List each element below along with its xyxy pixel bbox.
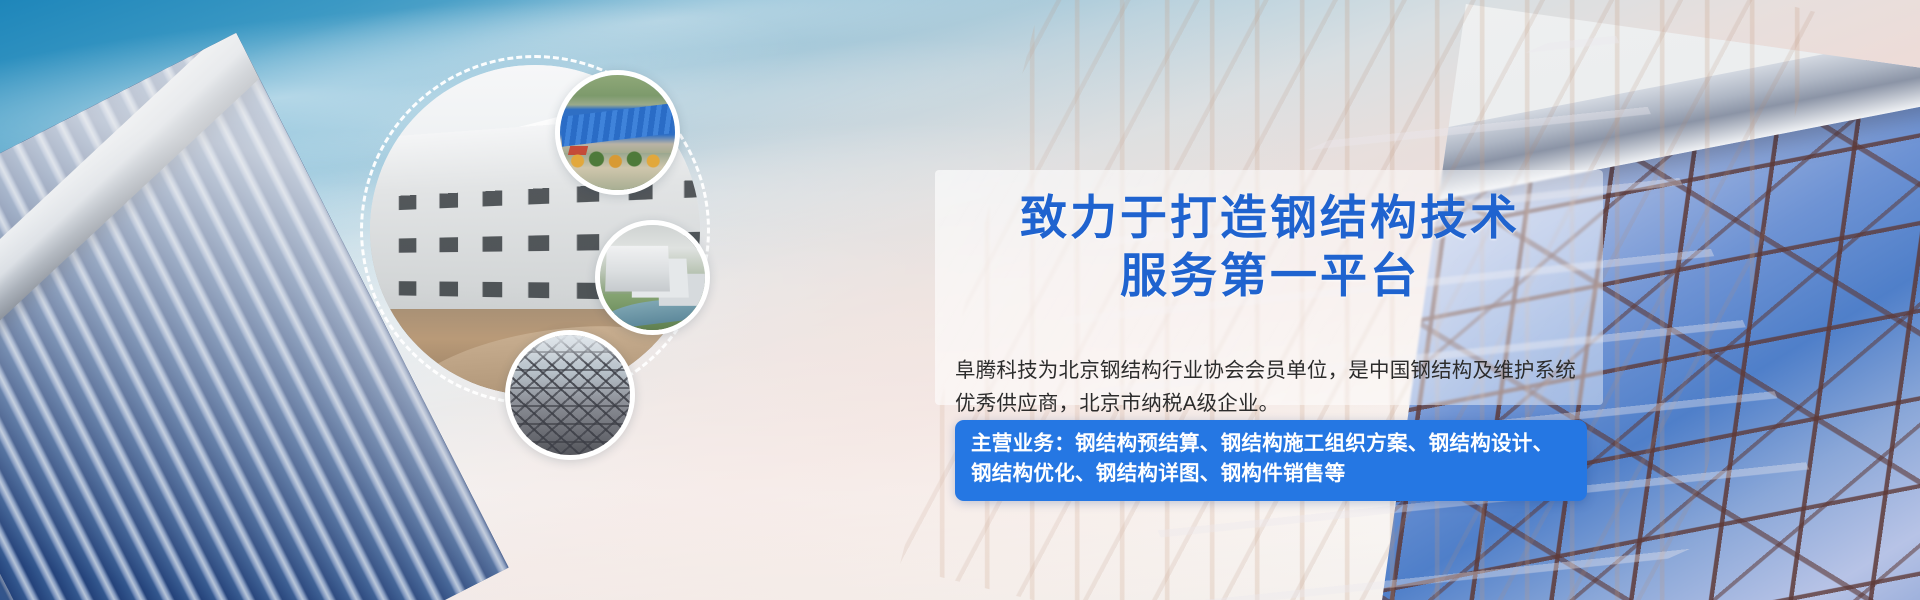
industrial-park-photo (595, 220, 710, 335)
blue-roof-factory-photo (555, 70, 680, 195)
photo-trees (565, 149, 671, 170)
main-business-box: 主营业务：钢结构预结算、钢结构施工组织方案、钢结构设计、钢结构优化、钢结构详图、… (955, 420, 1587, 501)
steel-truss-photo (505, 330, 635, 460)
photo-buildings (605, 246, 670, 292)
hero-banner: 致力于打造钢结构技术 服务第一平台 阜腾科技为北京钢结构行业协会会员单位，是中国… (0, 0, 1920, 600)
photo-circle-cluster (360, 55, 760, 455)
banner-headline: 致力于打造钢结构技术 服务第一平台 (935, 191, 1605, 306)
photo-sky (510, 335, 630, 364)
banner-description: 阜腾科技为北京钢结构行业协会会员单位，是中国钢结构及维护系统优秀供应商，北京市纳… (955, 354, 1595, 420)
